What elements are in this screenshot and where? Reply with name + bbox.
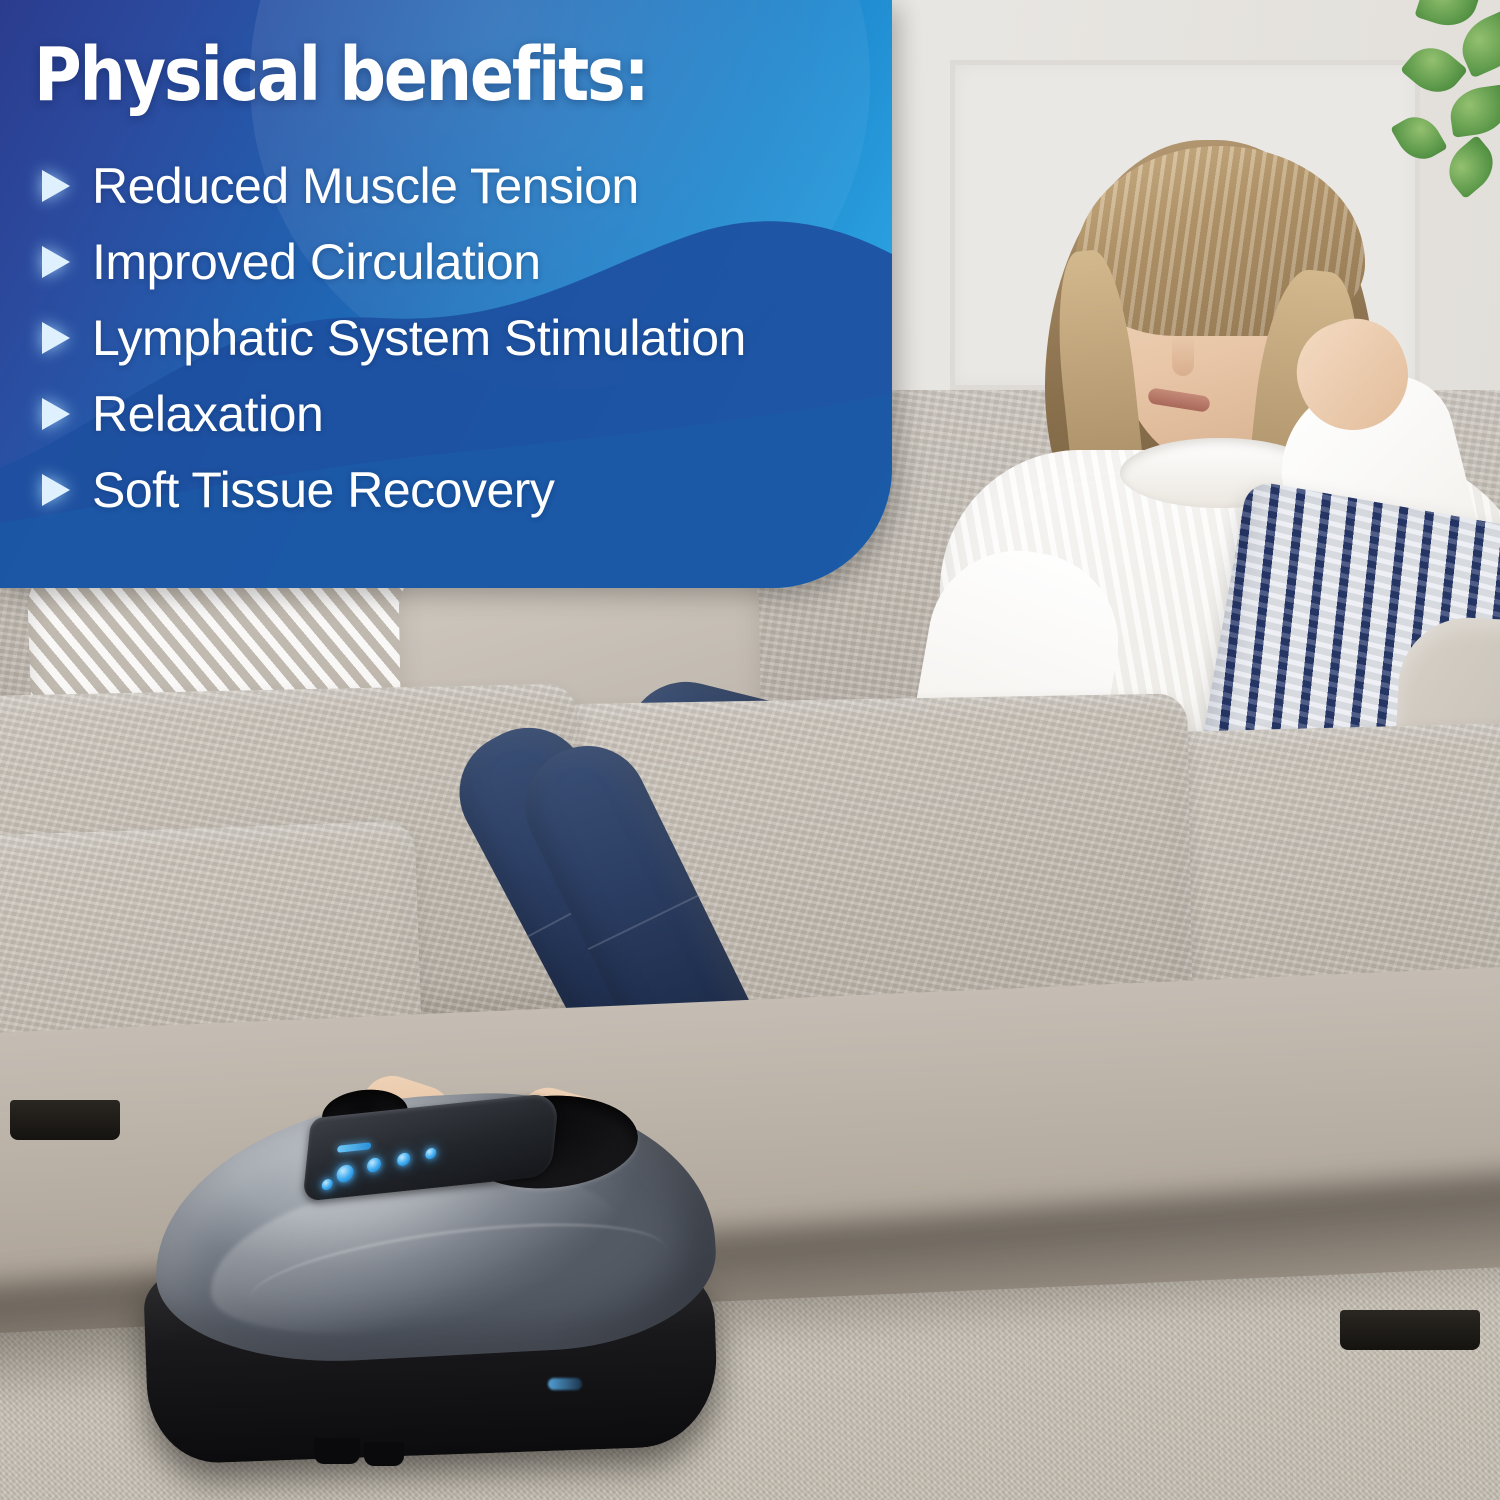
benefit-label: Soft Tissue Recovery <box>92 461 554 519</box>
triangle-right-icon <box>42 474 70 506</box>
benefits-overlay-panel: Physical benefits: Reduced Muscle Tensio… <box>0 0 892 588</box>
mode-led <box>366 1157 381 1173</box>
intensity-led <box>425 1147 437 1159</box>
product-marketing-image: Physical benefits: Reduced Muscle Tensio… <box>0 0 1500 1500</box>
triangle-right-icon <box>42 246 70 278</box>
benefit-item-4: Relaxation <box>34 376 892 452</box>
power-led <box>336 1164 355 1183</box>
benefits-list: Reduced Muscle Tension Improved Circulat… <box>34 148 892 528</box>
foot-massager-product <box>128 1060 748 1480</box>
benefit-item-2: Improved Circulation <box>34 224 892 300</box>
sofa-foot-left <box>10 1100 120 1140</box>
benefit-label: Relaxation <box>92 385 323 443</box>
triangle-right-icon <box>42 322 70 354</box>
power-led-bar <box>337 1142 372 1153</box>
benefit-label: Improved Circulation <box>92 233 541 291</box>
benefit-item-1: Reduced Muscle Tension <box>34 148 892 224</box>
massager-brand-glow <box>548 1378 582 1390</box>
benefit-item-3: Lymphatic System Stimulation <box>34 300 892 376</box>
triangle-right-icon <box>42 170 70 202</box>
triangle-right-icon <box>42 398 70 430</box>
benefit-item-5: Soft Tissue Recovery <box>34 452 892 528</box>
panel-content: Physical benefits: Reduced Muscle Tensio… <box>0 0 892 588</box>
timer-led <box>321 1178 333 1190</box>
massager-foot-pad-left <box>314 1438 360 1464</box>
benefit-label: Lymphatic System Stimulation <box>92 309 746 367</box>
sofa-foot-right <box>1340 1310 1480 1350</box>
massager-foot-pad-right <box>364 1442 404 1466</box>
heat-led <box>396 1152 410 1167</box>
nose <box>1172 334 1194 376</box>
benefit-label: Reduced Muscle Tension <box>92 157 639 215</box>
page-title: Physical benefits: <box>34 38 789 112</box>
